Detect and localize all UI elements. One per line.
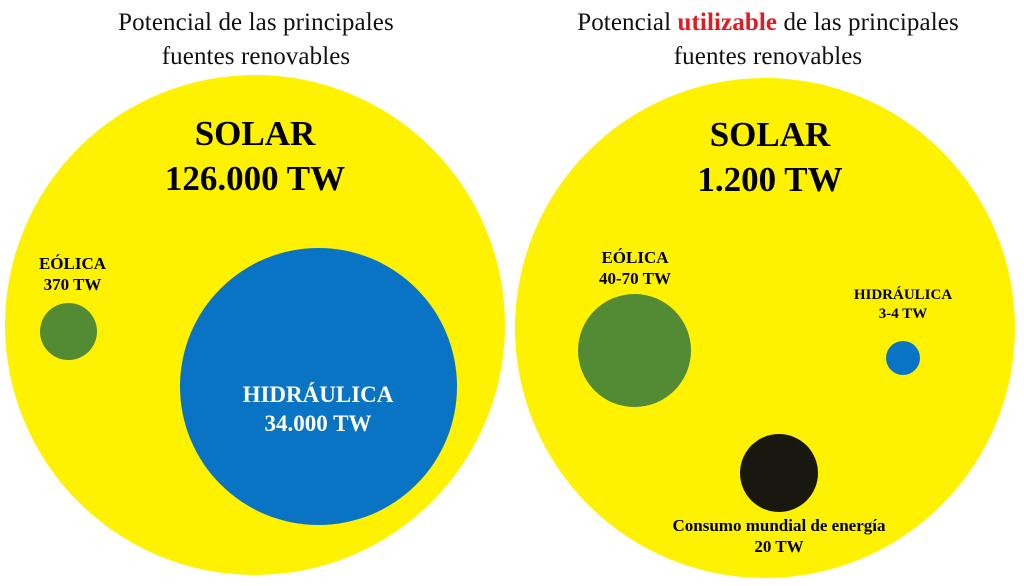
label-solar-right-value: 1.200 TW <box>645 158 895 203</box>
label-hydro-right: HIDRÁULICA 3-4 TW <box>840 286 966 323</box>
label-hydro-right-value: 3-4 TW <box>840 305 966 324</box>
label-solar-left: SOLAR 126.000 TW <box>130 112 380 202</box>
label-solar-right: SOLAR 1.200 TW <box>645 113 895 203</box>
label-wind-left: EÓLICA 370 TW <box>10 253 135 295</box>
panel-left-title: Potencial de las principales fuentes ren… <box>0 6 512 73</box>
panel-right-title: Potencial utilizable de las principales … <box>512 6 1024 73</box>
panel-left-title-line1: Potencial de las principales <box>118 9 394 36</box>
label-world-consumption-name: Consumo mundial de energía <box>673 516 886 535</box>
circle-hydro-right <box>886 341 920 375</box>
label-wind-right: EÓLICA 40-70 TW <box>570 247 700 289</box>
label-hydro-right-name: HIDRÁULICA <box>854 287 952 303</box>
circle-world-consumption <box>740 434 818 512</box>
circle-wind-left <box>40 303 97 360</box>
label-wind-right-name: EÓLICA <box>601 248 668 267</box>
infographic-canvas: Potencial de las principales fuentes ren… <box>0 0 1024 586</box>
label-world-consumption: Consumo mundial de energía 20 TW <box>634 515 924 557</box>
panel-right-title-post: de las principales <box>777 9 959 36</box>
panel-right-title-highlight: utilizable <box>677 9 777 36</box>
label-solar-left-value: 126.000 TW <box>130 157 380 202</box>
panel-left-title-line2: fuentes renovables <box>162 43 351 70</box>
label-wind-right-value: 40-70 TW <box>570 268 700 289</box>
label-wind-left-value: 370 TW <box>10 274 135 295</box>
label-hydro-left: HIDRÁULICA 34.000 TW <box>205 381 431 438</box>
label-wind-left-name: EÓLICA <box>39 254 106 273</box>
label-world-consumption-value: 20 TW <box>634 536 924 557</box>
panel-right-title-pre: Potencial <box>577 9 677 36</box>
panel-right-title-line2: fuentes renovables <box>674 43 863 70</box>
label-hydro-left-name: HIDRÁULICA <box>243 382 394 407</box>
label-hydro-left-value: 34.000 TW <box>205 410 431 439</box>
label-solar-left-name: SOLAR <box>195 114 316 153</box>
label-solar-right-name: SOLAR <box>710 115 831 154</box>
circle-wind-right <box>578 294 691 407</box>
